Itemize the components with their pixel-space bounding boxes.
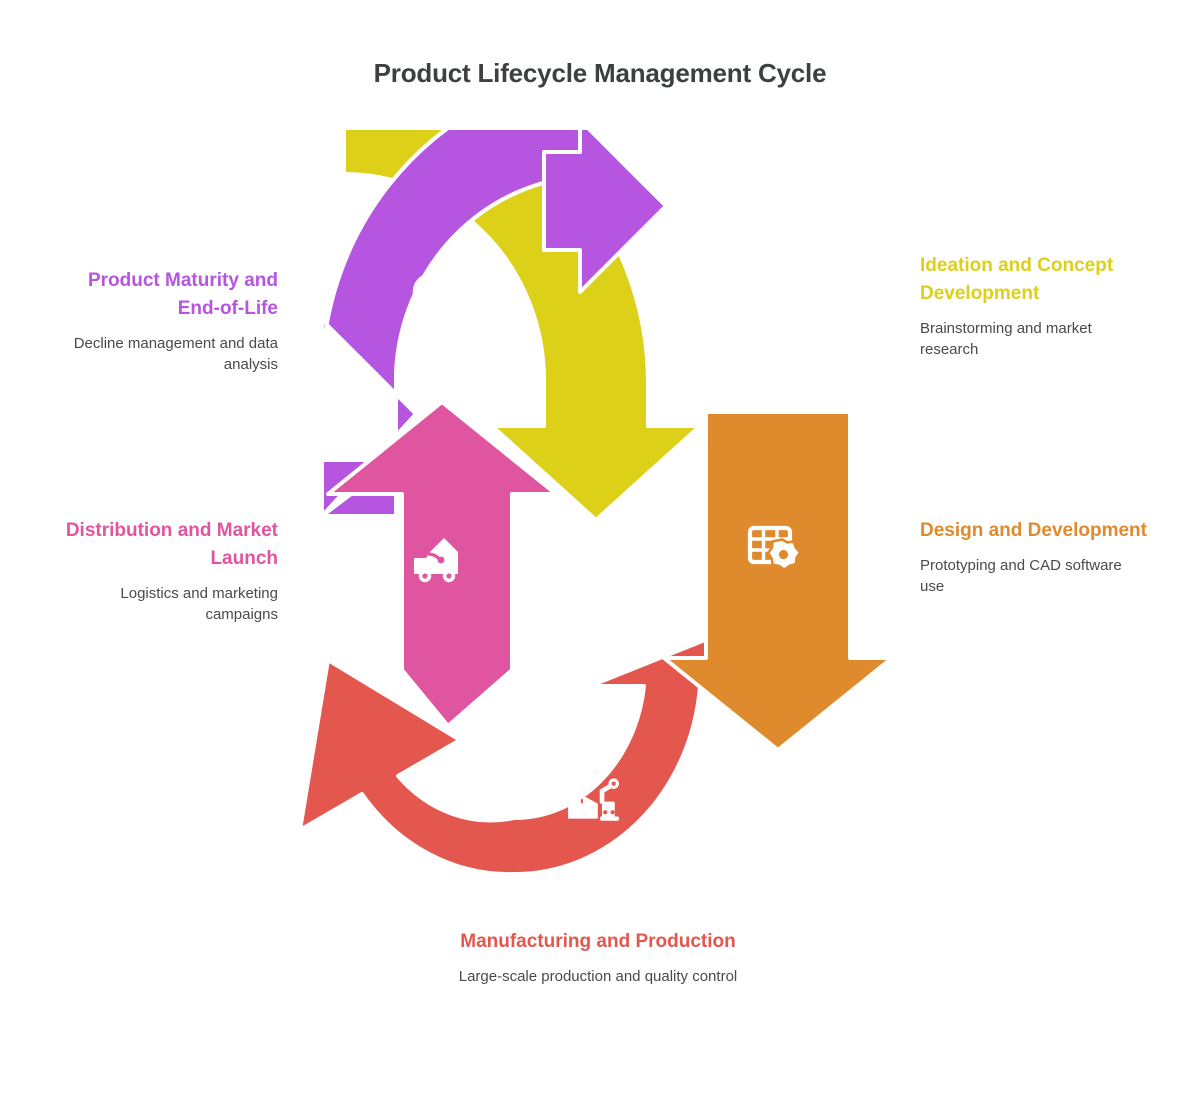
stage-label-distribution: Distribution and Market Launch Logistics… (50, 517, 278, 625)
stage-description-manufacturing: Large-scale production and quality contr… (448, 966, 748, 987)
page-title: Product Lifecycle Management Cycle (0, 58, 1200, 89)
cycle-svg (300, 130, 920, 920)
stage-description-maturity: Decline management and data analysis (50, 333, 278, 375)
stage-label-design: Design and Development Prototyping and C… (920, 517, 1150, 597)
stage-heading-maturity: Product Maturity and End-of-Life (50, 267, 278, 323)
lifecycle-cycle-diagram (300, 130, 920, 920)
stage-label-maturity: Product Maturity and End-of-Life Decline… (50, 267, 278, 375)
stage-description-distribution: Logistics and marketing campaigns (50, 583, 278, 625)
stage-description-ideation: Brainstorming and market research (920, 318, 1150, 360)
magnifier-trend-arrow-icon (415, 275, 459, 319)
stage-heading-distribution: Distribution and Market Launch (50, 517, 278, 573)
stage-heading-design: Design and Development (920, 517, 1150, 545)
stage-label-manufacturing: Manufacturing and Production Large-scale… (448, 928, 748, 987)
stage-label-ideation: Ideation and Concept Development Brainst… (920, 252, 1150, 360)
stage-heading-ideation: Ideation and Concept Development (920, 252, 1150, 308)
stage-heading-manufacturing: Manufacturing and Production (448, 928, 748, 956)
stage-description-design: Prototyping and CAD software use (920, 555, 1150, 597)
lightbulb-people-icon (707, 279, 769, 356)
